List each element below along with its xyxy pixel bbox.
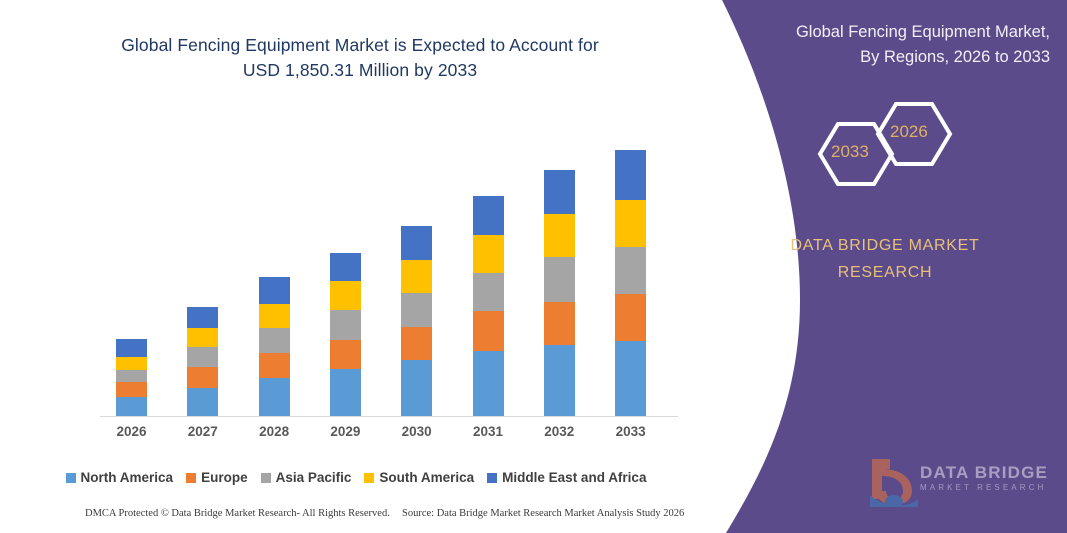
chart-title-line-1: Global Fencing Equipment Market is Expec… <box>60 33 660 58</box>
bar-stack <box>330 253 361 416</box>
bar-stack <box>544 169 575 416</box>
footer: DMCA Protected © Data Bridge Market Rese… <box>0 508 712 528</box>
legend-swatch-icon <box>186 473 196 483</box>
brand-name: DATA BRIDGE MARKET RESEARCH <box>740 232 1030 286</box>
bar-column-2031[interactable] <box>473 196 504 416</box>
x-axis-label-2032: 2032 <box>519 424 599 439</box>
bar-segment-middle-east-and-africa-2027[interactable] <box>187 307 218 328</box>
footer-source: Source: Data Bridge Market Research Mark… <box>402 508 684 519</box>
brand-heading: Global Fencing Equipment Market, By Regi… <box>725 20 1050 70</box>
x-axis-label-2028: 2028 <box>234 424 314 439</box>
bar-segment-north-america-2028[interactable] <box>259 378 290 416</box>
bar-segment-europe-2031[interactable] <box>473 311 504 351</box>
x-axis-label-2026: 2026 <box>92 424 172 439</box>
logo-mark-icon <box>868 455 918 507</box>
legend-swatch-icon <box>261 473 271 483</box>
bar-stack <box>401 226 432 416</box>
bar-segment-north-america-2030[interactable] <box>401 360 432 416</box>
data-bridge-logo: DATA BRIDGE MARKET RESEARCH <box>868 455 1043 513</box>
legend-label: North America <box>81 470 174 485</box>
bar-segment-middle-east-and-africa-2030[interactable] <box>401 226 432 260</box>
bar-segment-north-america-2027[interactable] <box>187 388 218 416</box>
bar-column-2032[interactable] <box>544 169 575 416</box>
bar-column-2026[interactable] <box>116 339 147 416</box>
hexagon-group: 2033 2026 <box>812 92 992 202</box>
brand-panel: Global Fencing Equipment Market, By Regi… <box>700 0 1067 533</box>
legend-swatch-icon <box>66 473 76 483</box>
legend-item-europe[interactable]: Europe <box>186 470 248 485</box>
bar-stack <box>615 150 646 416</box>
bar-segment-middle-east-and-africa-2033[interactable] <box>615 150 646 200</box>
hexagon-2026-label: 2026 <box>890 122 928 142</box>
logo-subtitle: MARKET RESEARCH <box>920 482 1048 494</box>
bar-segment-south-america-2026[interactable] <box>116 357 147 370</box>
bar-segment-north-america-2029[interactable] <box>330 369 361 416</box>
bar-stack <box>259 277 290 416</box>
legend-swatch-icon <box>487 473 497 483</box>
bar-segment-north-america-2031[interactable] <box>473 351 504 416</box>
legend-item-north-america[interactable]: North America <box>66 470 174 485</box>
bar-segment-europe-2029[interactable] <box>330 340 361 369</box>
chart-panel: Global Fencing Equipment Market is Expec… <box>0 0 712 533</box>
x-axis-label-2031: 2031 <box>448 424 528 439</box>
brand-heading-line-1: Global Fencing Equipment Market, <box>725 20 1050 45</box>
bar-segment-south-america-2033[interactable] <box>615 200 646 248</box>
legend-label: South America <box>379 470 474 485</box>
legend-swatch-icon <box>364 473 374 483</box>
bar-segment-europe-2026[interactable] <box>116 382 147 397</box>
logo-title: DATA BRIDGE <box>920 463 1048 482</box>
bar-column-2029[interactable] <box>330 253 361 416</box>
bar-stack <box>473 196 504 416</box>
legend-item-asia-pacific[interactable]: Asia Pacific <box>261 470 352 485</box>
bar-segment-asia-pacific-2030[interactable] <box>401 293 432 327</box>
x-axis-label-2027: 2027 <box>163 424 243 439</box>
bar-segment-middle-east-and-africa-2032[interactable] <box>544 170 575 214</box>
bar-segment-asia-pacific-2028[interactable] <box>259 328 290 353</box>
hexagon-2033-label: 2033 <box>831 142 869 162</box>
bar-segment-north-america-2033[interactable] <box>615 341 646 416</box>
x-axis-label-2030: 2030 <box>377 424 457 439</box>
bar-segment-south-america-2032[interactable] <box>544 214 575 257</box>
footer-copyright: DMCA Protected © Data Bridge Market Rese… <box>85 508 390 519</box>
legend-label: Middle East and Africa <box>502 470 646 485</box>
bar-segment-middle-east-and-africa-2026[interactable] <box>116 339 147 357</box>
bar-segment-middle-east-and-africa-2028[interactable] <box>259 277 290 303</box>
bar-segment-south-america-2031[interactable] <box>473 235 504 273</box>
bar-segment-north-america-2026[interactable] <box>116 397 147 416</box>
bar-stack <box>116 339 147 416</box>
bar-segment-asia-pacific-2026[interactable] <box>116 370 147 382</box>
legend-label: Europe <box>201 470 248 485</box>
bar-segment-south-america-2027[interactable] <box>187 328 218 347</box>
x-axis-line <box>100 416 678 417</box>
bar-column-2028[interactable] <box>259 277 290 416</box>
bar-segment-europe-2028[interactable] <box>259 353 290 378</box>
brand-name-line-2: RESEARCH <box>740 259 1030 286</box>
legend-label: Asia Pacific <box>276 470 352 485</box>
bar-segment-asia-pacific-2027[interactable] <box>187 347 218 368</box>
bar-segment-middle-east-and-africa-2029[interactable] <box>330 253 361 281</box>
bar-column-2027[interactable] <box>187 306 218 416</box>
bar-segment-asia-pacific-2029[interactable] <box>330 310 361 340</box>
bar-column-2030[interactable] <box>401 226 432 416</box>
bar-segment-europe-2030[interactable] <box>401 327 432 360</box>
legend-item-middle-east-and-africa[interactable]: Middle East and Africa <box>487 470 646 485</box>
bar-segment-south-america-2030[interactable] <box>401 260 432 294</box>
bar-segment-europe-2033[interactable] <box>615 294 646 341</box>
logo-text: DATA BRIDGE MARKET RESEARCH <box>920 463 1048 494</box>
chart-title-line-2: USD 1,850.31 Million by 2033 <box>60 58 660 83</box>
chart-legend: North AmericaEuropeAsia PacificSouth Ame… <box>0 470 712 485</box>
legend-item-south-america[interactable]: South America <box>364 470 474 485</box>
x-axis-label-2033: 2033 <box>591 424 671 439</box>
brand-name-line-1: DATA BRIDGE MARKET <box>740 232 1030 259</box>
brand-heading-line-2: By Regions, 2026 to 2033 <box>725 45 1050 70</box>
bar-segment-middle-east-and-africa-2031[interactable] <box>473 196 504 235</box>
bar-segment-south-america-2028[interactable] <box>259 304 290 328</box>
bar-column-2033[interactable] <box>615 150 646 416</box>
x-axis-label-2029: 2029 <box>305 424 385 439</box>
bar-segment-europe-2032[interactable] <box>544 302 575 345</box>
bar-segment-asia-pacific-2033[interactable] <box>615 247 646 294</box>
bar-segment-asia-pacific-2032[interactable] <box>544 257 575 302</box>
bar-stack <box>187 306 218 416</box>
bar-segment-south-america-2029[interactable] <box>330 281 361 310</box>
bar-segment-europe-2027[interactable] <box>187 367 218 388</box>
bar-segment-asia-pacific-2031[interactable] <box>473 273 504 311</box>
bar-segment-north-america-2032[interactable] <box>544 345 575 416</box>
chart-title: Global Fencing Equipment Market is Expec… <box>60 33 660 83</box>
